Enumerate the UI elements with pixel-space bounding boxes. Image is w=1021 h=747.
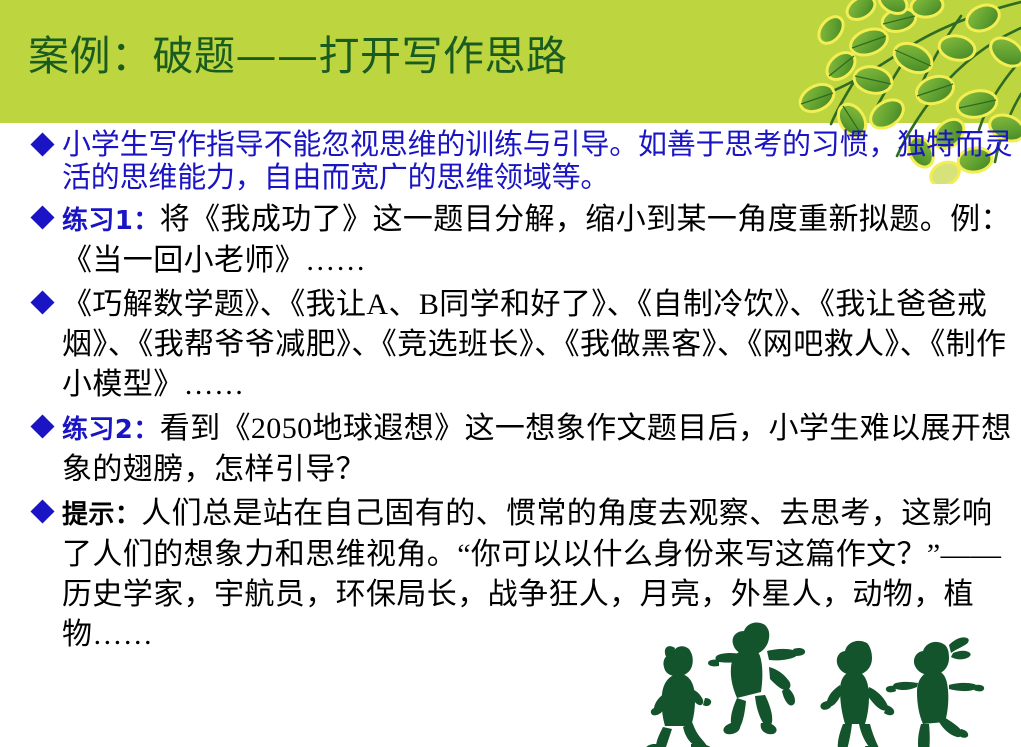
bullet-paragraph: 练习1：将《我成功了》这一题目分解，缩小到某一角度重新拟题。例：《当一回小老师》… — [62, 200, 1021, 281]
bullet-text: 小学生写作指导不能忽视思维的训练与引导。如善于思考的习惯，独特而灵活的思维能力，… — [62, 128, 1021, 194]
bullet-label: 提示： — [62, 500, 141, 530]
diamond-bullet-icon — [30, 499, 54, 523]
diamond-bullet-icon — [30, 205, 54, 229]
list-item: 练习2：看到《2050地球遐想》这一想象作文题目后，小学生难以展开想象的翅膀，怎… — [0, 409, 1021, 490]
bullet-text: 将《我成功了》这一题目分解，缩小到某一角度重新拟题。例：《当一回小老师》…… — [62, 203, 1011, 277]
bullet-paragraph: 提示：人们总是站在自己固有的、惯常的角度去观察、去思考，这影响了人们的想象力和思… — [62, 494, 1021, 655]
slide-canvas: 小学生写作指导不能忽视思维的训练与引导。如善于思考的习惯，独特而灵活的思维能力，… — [0, 0, 1021, 747]
bullet-label: 练习1： — [62, 206, 160, 236]
diamond-bullet-icon — [30, 290, 54, 314]
bullet-text: 《巧解数学题》、《我让A、B同学和好了》、《自制冷饮》、《我让爸爸戒烟》、《我帮… — [62, 285, 1021, 405]
list-item: 提示：人们总是站在自己固有的、惯常的角度去观察、去思考，这影响了人们的想象力和思… — [0, 494, 1021, 655]
list-item: 《巧解数学题》、《我让A、B同学和好了》、《自制冷饮》、《我让爸爸戒烟》、《我帮… — [0, 285, 1021, 405]
bullet-text: 人们总是站在自己固有的、惯常的角度去观察、去思考，这影响了人们的想象力和思维视角… — [62, 497, 1001, 651]
diamond-bullet-icon — [30, 132, 54, 156]
list-item: 练习1：将《我成功了》这一题目分解，缩小到某一角度重新拟题。例：《当一回小老师》… — [0, 200, 1021, 281]
diamond-bullet-icon — [30, 414, 54, 438]
page-title: 案例：破题——打开写作思路 — [28, 30, 568, 82]
bullet-list: 小学生写作指导不能忽视思维的训练与引导。如善于思考的习惯，独特而灵活的思维能力，… — [0, 128, 1021, 655]
bullet-paragraph: 练习2：看到《2050地球遐想》这一想象作文题目后，小学生难以展开想象的翅膀，怎… — [62, 409, 1021, 490]
bullet-label: 练习2： — [62, 415, 160, 445]
list-item: 小学生写作指导不能忽视思维的训练与引导。如善于思考的习惯，独特而灵活的思维能力，… — [0, 128, 1021, 194]
bullet-text: 看到《2050地球遐想》这一想象作文题目后，小学生难以展开想象的翅膀，怎样引导？ — [62, 412, 1012, 486]
